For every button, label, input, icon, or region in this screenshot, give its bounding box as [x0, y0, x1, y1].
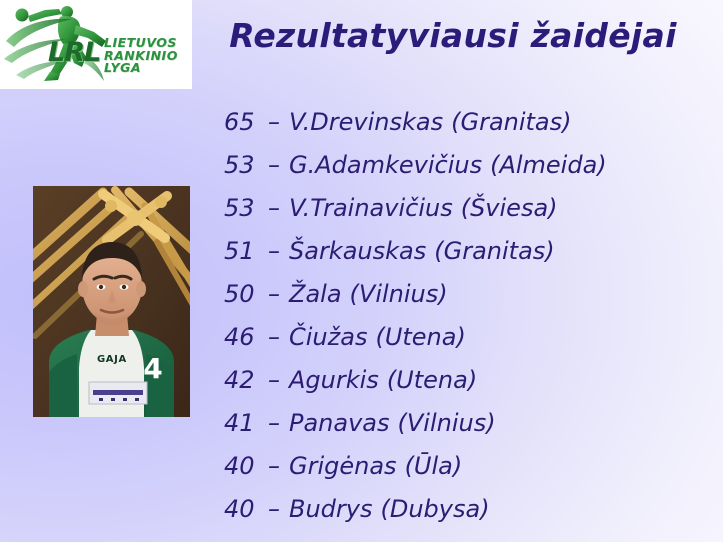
scorer-club: (Vilnius) [342, 280, 448, 308]
scorer-name: Budrys [289, 495, 372, 523]
scorer-club: (Vilnius) [390, 409, 496, 437]
scorer-dash: – [262, 495, 289, 523]
list-item: 41 – Panavas (Vilnius) [224, 401, 704, 444]
scorer-club: (Almeida) [482, 151, 607, 179]
scorer-score: 41 [224, 409, 262, 437]
scorer-score: 42 [224, 366, 262, 394]
scorer-club: (Ūla) [397, 452, 463, 480]
scorer-name: Čiužas [289, 323, 367, 351]
scorer-score: 51 [224, 237, 262, 265]
scorer-dash: – [262, 151, 289, 179]
scorer-club: (Granitas) [443, 108, 571, 136]
svg-text:4: 4 [143, 352, 162, 385]
scorer-club: (Granitas) [426, 237, 554, 265]
scorer-club: (Utena) [379, 366, 477, 394]
presentation-slide: LRL LIETUVOS RANKINIO LYGA [0, 0, 723, 542]
svg-text:GAJA: GAJA [97, 354, 127, 365]
scorer-name: Panavas [289, 409, 390, 437]
scorer-score: 40 [224, 452, 262, 480]
scorer-dash: – [262, 237, 289, 265]
logo-wordmark-line-3: LYGA [104, 62, 178, 75]
scorer-name: Šarkauskas [289, 237, 426, 265]
scorer-score: 53 [224, 194, 262, 222]
scorer-score: 53 [224, 151, 262, 179]
scorer-name: Žala [289, 280, 342, 308]
list-item: 53 – G.Adamkevičius (Almeida) [224, 143, 704, 186]
scorer-score: 46 [224, 323, 262, 351]
logo-wordmark: LIETUVOS RANKINIO LYGA [104, 37, 178, 75]
scorer-dash: – [262, 452, 289, 480]
scorer-dash: – [262, 280, 289, 308]
list-item: 46 – Čiužas (Utena) [224, 315, 704, 358]
list-item: 65 – V.Drevinskas (Granitas) [224, 100, 704, 143]
list-item: 50 – Žala (Vilnius) [224, 272, 704, 315]
logo-monogram: LRL [48, 39, 100, 66]
scorer-name: Grigėnas [289, 452, 397, 480]
league-logo-panel: LRL LIETUVOS RANKINIO LYGA [0, 0, 192, 89]
player-portrait-photo: GAJA 4 [33, 186, 190, 417]
scorer-dash: – [262, 108, 289, 136]
scorer-score: 40 [224, 495, 262, 523]
page-title: Rezultatyviausi žaidėjai [203, 16, 703, 55]
list-item: 40 – Budrys (Dubysa) [224, 487, 704, 530]
scorer-club: (Šviesa) [453, 194, 558, 222]
list-item: 40 – Grigėnas (Ūla) [224, 444, 704, 487]
scorer-dash: – [262, 194, 289, 222]
scorer-dash: – [262, 323, 289, 351]
scorer-name: Agurkis [289, 366, 379, 394]
scorer-score: 50 [224, 280, 262, 308]
scorer-name: V.Trainavičius [289, 194, 453, 222]
scorer-dash: – [262, 366, 289, 394]
list-item: 51 – Šarkauskas (Granitas) [224, 229, 704, 272]
scorer-club: (Utena) [367, 323, 465, 351]
list-item: 53 – V.Trainavičius (Šviesa) [224, 186, 704, 229]
scorer-name: G.Adamkevičius [289, 151, 482, 179]
scorer-club: (Dubysa) [372, 495, 489, 523]
scorer-dash: – [262, 409, 289, 437]
list-item: 42 – Agurkis (Utena) [224, 358, 704, 401]
top-scorers-list: 65 – V.Drevinskas (Granitas) 53 – G.Adam… [224, 100, 704, 530]
scorer-score: 65 [224, 108, 262, 136]
scorer-name: V.Drevinskas [289, 108, 443, 136]
